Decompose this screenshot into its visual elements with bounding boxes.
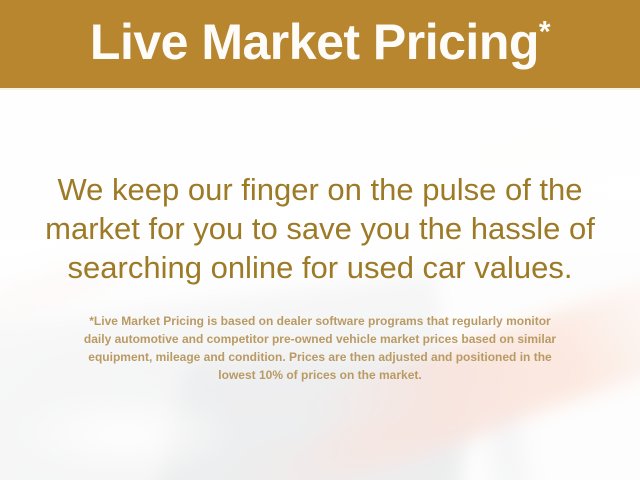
disclaimer-line-4: lowest 10% of prices on the market.: [32, 366, 608, 384]
disclaimer-line-3: equipment, mileage and condition. Prices…: [32, 348, 608, 366]
content-area: We keep our finger on the pulse of the m…: [0, 90, 640, 480]
disclaimer-line-1: *Live Market Pricing is based on dealer …: [32, 312, 608, 330]
disclaimer-line-2: daily automotive and competitor pre-owne…: [32, 330, 608, 348]
live-market-pricing-slide: Live Market Pricing* We keep our finger …: [0, 0, 640, 480]
header-banner: Live Market Pricing*: [0, 0, 640, 90]
headline-line-3: searching online for used car values.: [24, 248, 616, 287]
headline: We keep our finger on the pulse of the m…: [24, 170, 616, 287]
headline-line-2: market for you to save you the hassle of: [24, 209, 616, 248]
disclaimer-text: *Live Market Pricing is based on dealer …: [32, 312, 608, 384]
page-title: Live Market Pricing*: [90, 17, 550, 71]
page-title-asterisk: *: [539, 15, 550, 48]
page-title-text: Live Market Pricing: [90, 14, 539, 70]
headline-line-1: We keep our finger on the pulse of the: [24, 170, 616, 209]
